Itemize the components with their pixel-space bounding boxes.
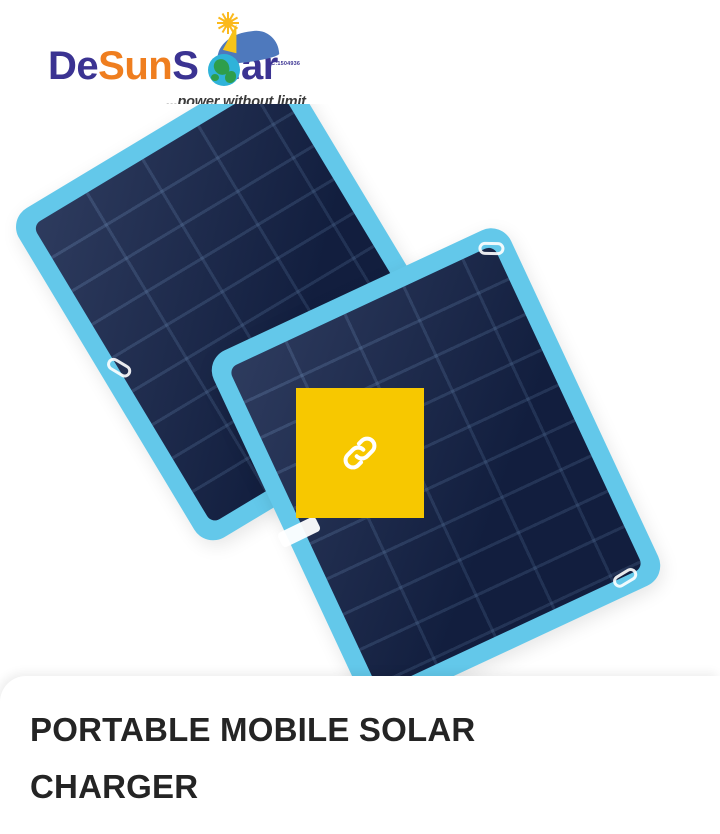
product-page: DeSunSlar RC:1504936 ...power without li… xyxy=(0,0,720,834)
sun-icon xyxy=(219,14,237,32)
grommet-eyelet xyxy=(478,242,504,255)
product-title: PORTABLE MOBILE SOLAR CHARGER xyxy=(30,702,630,816)
brand-word-sun: Sun xyxy=(98,44,172,88)
registration-number: RC:1504936 xyxy=(267,61,300,67)
product-info-card: PORTABLE MOBILE SOLAR CHARGER xyxy=(0,676,720,834)
product-image[interactable] xyxy=(0,104,720,676)
globe-icon xyxy=(208,54,240,86)
link-badge-button[interactable] xyxy=(296,388,424,518)
link-icon xyxy=(338,431,382,475)
brand-logo[interactable]: DeSunSlar RC:1504936 ...power without li… xyxy=(48,10,273,102)
brand-word-s: S xyxy=(172,44,198,88)
brand-word-de: De xyxy=(48,44,98,88)
